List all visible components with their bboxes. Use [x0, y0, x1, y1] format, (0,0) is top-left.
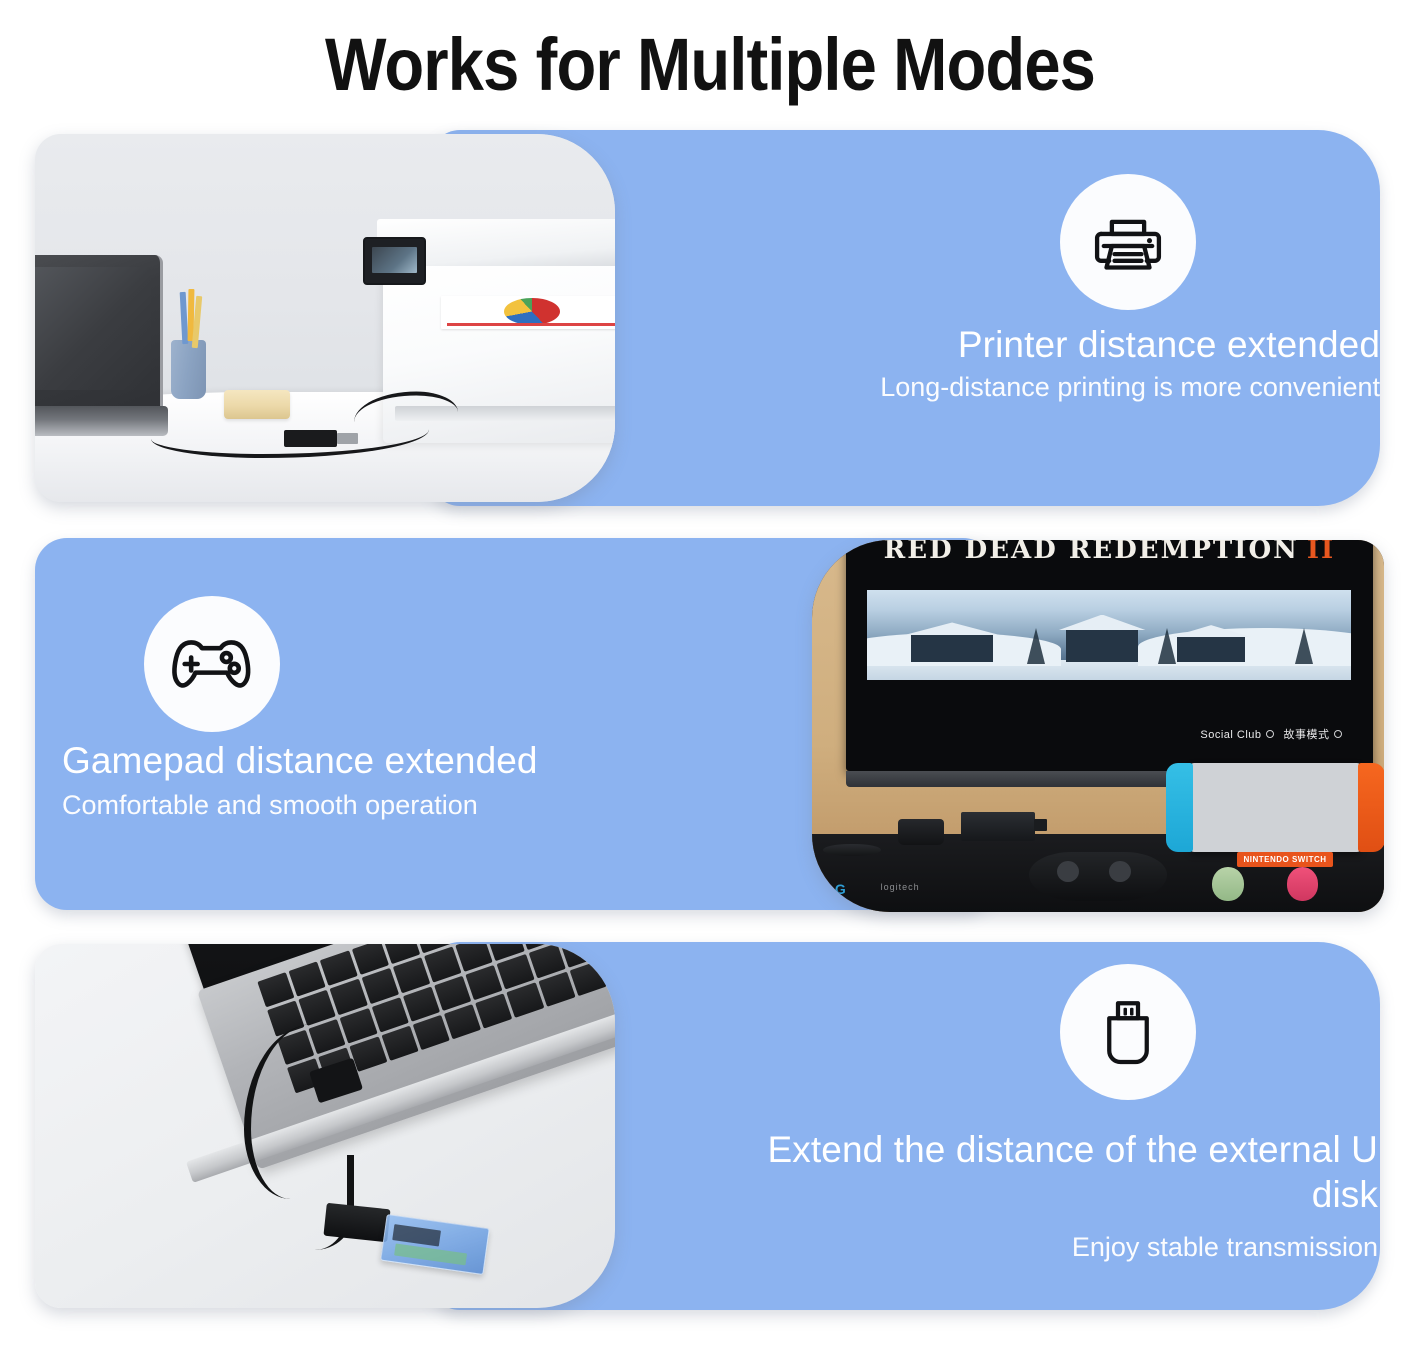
- card-printer-subline: Long-distance printing is more convenien…: [740, 370, 1380, 405]
- game-title-numeral: II: [1307, 540, 1335, 565]
- printer-control-screen: [363, 237, 427, 285]
- game-title-text: RED DEAD REDEMPTIONII: [884, 540, 1336, 565]
- hud-story-mode: 故事模式: [1284, 729, 1330, 741]
- card-udisk-headline: Extend the distance of the external U di…: [738, 1127, 1378, 1217]
- game-screenshot: [867, 590, 1351, 680]
- logitech-logo: G: [835, 881, 846, 897]
- page-title: Works for Multiple Modes: [85, 28, 1335, 102]
- usb-hub: [961, 812, 1035, 842]
- game-title-words: RED DEAD REDEMPTION: [884, 540, 1299, 565]
- round-pad: [823, 844, 880, 857]
- card-gamepad-headline: Gamepad distance extended: [62, 738, 762, 783]
- infographic-page: Works for Multiple Modes: [0, 0, 1420, 1362]
- green-stick: [1212, 867, 1243, 900]
- card-udisk-photo: [35, 944, 615, 1308]
- speaker-puck: [898, 819, 944, 845]
- pencil-cup: [171, 340, 206, 399]
- monitor: RED DEAD REDEMPTIONII Social Club故事模式: [846, 540, 1372, 771]
- usb-drive-icon: [1088, 992, 1168, 1072]
- usb-drive-icon-bubble: [1060, 964, 1196, 1100]
- feature-card-udisk: Extend the distance of the external U di…: [0, 942, 1420, 1322]
- tree-2: [1158, 628, 1176, 664]
- usb-connector: [284, 430, 336, 447]
- blue-usb-adapter: [380, 1214, 490, 1275]
- printer-icon-bubble: [1060, 174, 1196, 310]
- feature-card-gamepad: RED DEAD REDEMPTIONII Social Club故事模式: [0, 538, 1420, 928]
- gamepad-icon: [166, 618, 258, 710]
- mat-brand-text: logitech: [881, 882, 920, 892]
- cabin-left: [911, 635, 993, 662]
- laptop-screen: [35, 255, 163, 421]
- printed-page: [441, 296, 615, 329]
- hud-dot-right: [1334, 730, 1342, 738]
- playstation-controller: [1029, 852, 1166, 900]
- nintendo-switch: [1190, 763, 1362, 852]
- cabin-center: [1066, 630, 1139, 663]
- card-udisk-subline: Enjoy stable transmission: [738, 1230, 1378, 1265]
- hud-dot-left: [1266, 730, 1274, 738]
- gamepad-icon-bubble: [144, 596, 280, 732]
- pink-stick: [1287, 867, 1318, 900]
- card-printer-photo: [35, 134, 615, 502]
- switch-cartridge-badge: NINTENDO SWITCH: [1237, 852, 1332, 867]
- feature-card-printer: Printer distance extended Long-distance …: [0, 130, 1420, 520]
- tree-1: [1027, 628, 1045, 664]
- tree-3: [1295, 628, 1313, 664]
- card-printer-headline: Printer distance extended: [740, 322, 1380, 367]
- game-hud: Social Club故事模式: [1200, 726, 1351, 742]
- printed-red-band: [447, 323, 615, 325]
- card-gamepad-subline: Comfortable and smooth operation: [62, 788, 762, 823]
- printer-icon: [1085, 199, 1171, 285]
- card-gamepad-photo: RED DEAD REDEMPTIONII Social Club故事模式: [812, 540, 1384, 912]
- printed-pie-chart: [504, 298, 560, 325]
- hud-social-club: Social Club: [1200, 729, 1261, 741]
- usb-a-female-connector: [323, 1203, 390, 1242]
- laptop-base: [35, 406, 168, 435]
- cabin-right: [1177, 637, 1245, 662]
